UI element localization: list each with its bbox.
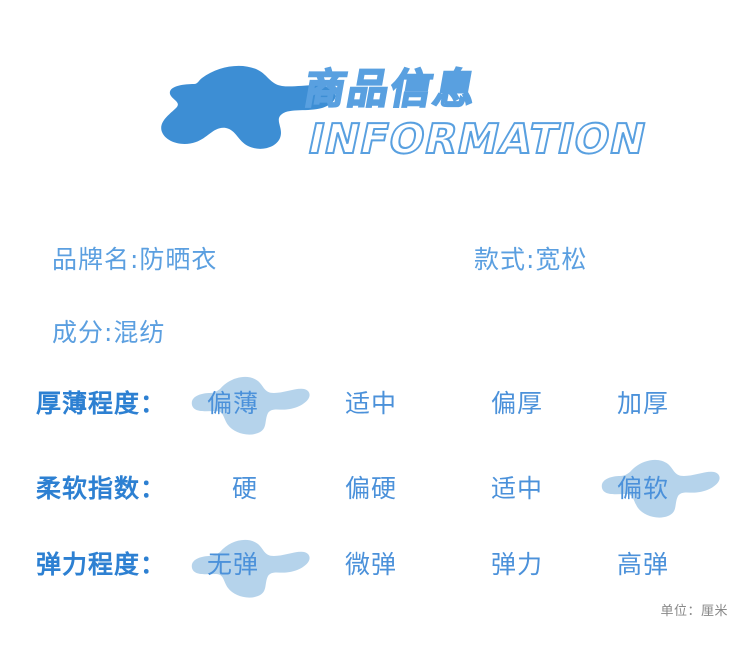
spec-selector-block: 厚薄程度： 偏薄 适中 偏厚 加厚 柔软指数： 硬 偏硬 适中 偏软 弹力程度： <box>0 0 750 645</box>
spec-row-thickness: 厚薄程度： 偏薄 适中 偏厚 加厚 <box>0 375 750 437</box>
spec-option-softness-3[interactable]: 偏软 <box>617 469 669 505</box>
spec-option-elasticity-2[interactable]: 弹力 <box>491 545 543 581</box>
spec-option-thickness-0[interactable]: 偏薄 <box>207 384 259 420</box>
spec-option-elasticity-3[interactable]: 高弹 <box>617 545 669 581</box>
spec-option-softness-2[interactable]: 适中 <box>491 469 543 505</box>
spec-option-thickness-1[interactable]: 适中 <box>345 384 397 420</box>
spec-option-thickness-2[interactable]: 偏厚 <box>491 384 543 420</box>
spec-option-softness-1[interactable]: 偏硬 <box>345 469 397 505</box>
spec-label-softness: 柔软指数： <box>36 469 166 505</box>
spec-row-elasticity: 弹力程度： 无弹 微弹 弹力 高弹 <box>0 536 750 598</box>
spec-label-thickness: 厚薄程度： <box>36 384 166 420</box>
spec-option-elasticity-1[interactable]: 微弹 <box>345 545 397 581</box>
spec-option-thickness-3[interactable]: 加厚 <box>617 384 669 420</box>
unit-note: 单位：厘米 <box>660 600 728 619</box>
spec-label-elasticity: 弹力程度： <box>36 545 166 581</box>
spec-option-elasticity-0[interactable]: 无弹 <box>207 545 259 581</box>
spec-row-softness: 柔软指数： 硬 偏硬 适中 偏软 <box>0 460 750 522</box>
spec-option-softness-0[interactable]: 硬 <box>232 469 258 505</box>
